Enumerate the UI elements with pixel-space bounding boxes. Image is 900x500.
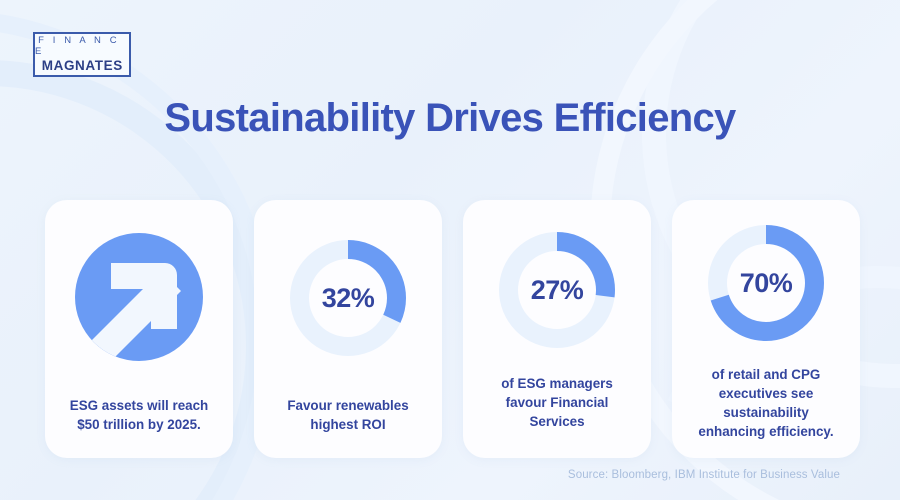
card-caption: Favour renewables highest ROI [262,396,434,434]
stat-card-renewables: 32% Favour renewables highest ROI [254,200,442,458]
card-caption: ESG assets will reach $50 trillion by 20… [53,396,225,434]
stat-card-esg-managers: 27% of ESG managers favour Financial Ser… [463,200,651,458]
caption-line: $50 trillion by 2025. [53,415,225,434]
donut-chart-27: 27% [499,232,615,348]
donut-value-label: 32% [290,240,406,356]
caption-line: enhancing efficiency. [680,422,852,441]
infographic-canvas: F I N A N C E MAGNATES Sustainability Dr… [0,0,900,500]
logo-text-magnates: MAGNATES [41,58,123,74]
caption-line: sustainability [680,403,852,422]
card-caption: of ESG managers favour Financial Service… [471,374,643,431]
card-visual-donut: 32% [254,240,442,356]
caption-line: Favour renewables [262,396,434,415]
caption-line: executives see [680,384,852,403]
donut-chart-70: 70% [708,225,824,341]
card-caption: of retail and CPG executives see sustain… [680,365,852,441]
caption-line: highest ROI [262,415,434,434]
caption-line: Services [471,412,643,431]
stat-card-row: ESG assets will reach $50 trillion by 20… [45,200,860,458]
caption-line: favour Financial [471,393,643,412]
caption-line: ESG assets will reach [53,396,225,415]
card-visual-arrow [45,233,233,361]
card-visual-donut: 70% [672,225,860,341]
arrow-up-right-icon [75,233,203,361]
donut-value-label: 70% [708,225,824,341]
finance-magnates-logo: F I N A N C E MAGNATES [33,32,131,77]
source-note: Source: Bloomberg, IBM Institute for Bus… [568,469,840,481]
donut-value-label: 27% [499,232,615,348]
page-title: Sustainability Drives Efficiency [0,96,900,141]
donut-chart-32: 32% [290,240,406,356]
card-visual-donut: 27% [463,232,651,348]
stat-card-esg-assets: ESG assets will reach $50 trillion by 20… [45,200,233,458]
caption-line: of ESG managers [471,374,643,393]
stat-card-retail-cpg: 70% of retail and CPG executives see sus… [672,200,860,458]
logo-text-finance: F I N A N C E [35,36,129,58]
caption-line: of retail and CPG [680,365,852,384]
